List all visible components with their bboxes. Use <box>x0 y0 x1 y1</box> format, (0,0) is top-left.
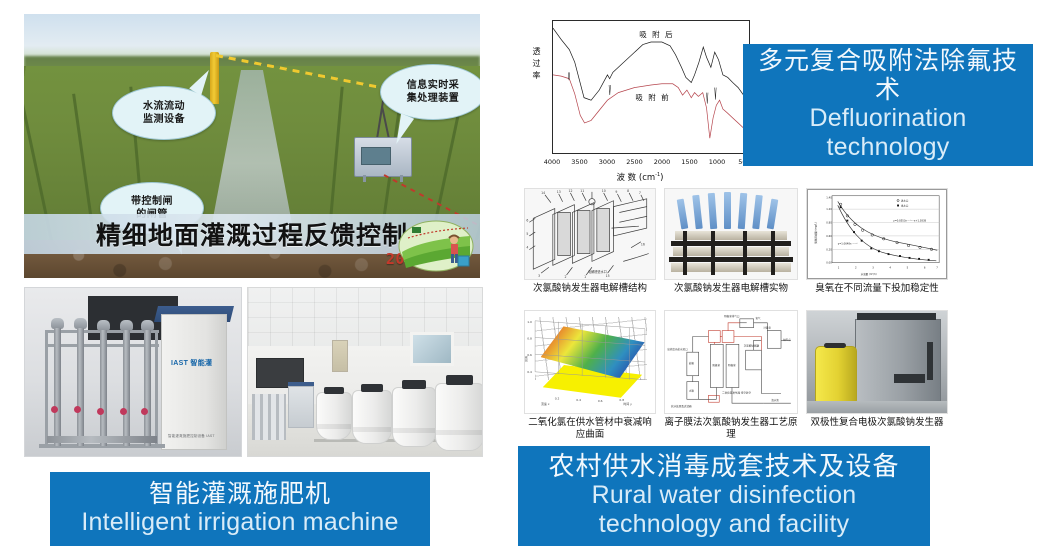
irrigation-fertigation-machine-photo: IAST 智能灌 智能灌溉施肥控制设备 IAST <box>24 287 242 457</box>
vertical-pipe <box>54 328 61 446</box>
vertical-pipe <box>100 330 107 446</box>
pump-rack <box>252 394 286 440</box>
farmer-illustration-icon <box>398 218 474 274</box>
svg-text:2: 2 <box>855 265 857 269</box>
electrode-rod <box>752 195 763 230</box>
ftir-x-tick: 4000 <box>544 158 561 166</box>
svg-text:阴极室: 阴极室 <box>728 363 736 367</box>
generator-vent <box>857 313 935 320</box>
electrode-rod <box>708 193 717 229</box>
svg-text:水箱: 水箱 <box>689 388 695 392</box>
svg-text:清水池: 清水池 <box>771 398 779 402</box>
process-diagram-box: 阴极室排气口 氢气 高浓度淡盐水进口 盐箱 水箱 阳极室 阴极室 次氯酸钠储罐 … <box>665 311 797 413</box>
schematic-drawing: 141312 11109 87 654 321 1516 电解槽进水口 <box>525 189 655 279</box>
banner-defluorination-cn: 多元复合吸附法除氟技术 <box>753 47 1023 104</box>
svg-text:0.00: 0.00 <box>826 261 832 265</box>
svg-text:水流量 (m³/h): 水流量 (m³/h) <box>861 272 877 276</box>
caption-clo2-decay-surface: 二氧化氯在供水管材中衰减响应曲面 <box>524 417 656 441</box>
svg-text:8: 8 <box>627 189 629 193</box>
door <box>332 340 348 372</box>
svg-text:1: 1 <box>838 265 840 269</box>
banner-disinfection-en2: technology and facility <box>528 510 920 539</box>
machine-sublabel: 智能灌溉施肥控制设备 IAST <box>168 434 215 439</box>
floor <box>807 401 947 413</box>
svg-text:0.4: 0.4 <box>576 398 581 402</box>
electrode-rod <box>738 193 747 229</box>
poster-root: 水流流动 监测设备 信息实时采 集处理装置 带控制闸 的闸管 精细地面灌溉过程反… <box>0 0 1040 557</box>
frame-post <box>155 330 158 446</box>
svg-text:0.80: 0.80 <box>826 220 832 224</box>
tank-lid <box>824 343 846 348</box>
banner-defluorination: 多元复合吸附法除氟技术 Defluorination technology <box>743 44 1033 166</box>
valve-handle <box>141 408 148 415</box>
bipolar-generator-photo <box>806 310 948 414</box>
cell-electrolysis-structure: 141312 11109 87 654 321 1516 电解槽进水口 次氯酸钠… <box>524 188 656 295</box>
ftir-x-tick: 3500 <box>571 158 588 166</box>
frame-post <box>45 330 48 446</box>
vertical-pipe <box>77 328 84 446</box>
ftir-spectrum-chart: 透过率 吸 附 后 吸 附 前 400035003000250020001500… <box>524 12 756 184</box>
svg-text:电解槽进水口: 电解槽进水口 <box>588 269 607 274</box>
electrode-rod <box>692 195 703 230</box>
tank-lid <box>446 375 473 385</box>
ftir-x-tick: 2000 <box>654 158 671 166</box>
clo2-response-surface: 1.00.8 0.60.4 衰减 流速 x时间 y 0.20.4 0.60.8 <box>524 310 656 414</box>
ftir-sharp-peak <box>715 88 716 100</box>
svg-text:15: 15 <box>606 274 610 278</box>
electrode-stack-photo <box>664 188 798 280</box>
caption-electrolysis-photo: 次氯酸钠发生器电解槽实物 <box>664 283 798 295</box>
control-cabinet <box>161 314 227 450</box>
generator-vent <box>894 374 925 383</box>
banner-defluorination-en2: technology <box>753 133 1023 162</box>
svg-text:出水口: 出水口 <box>901 203 909 207</box>
logger-screen <box>361 147 391 165</box>
ftir-x-tick: 3000 <box>599 158 616 166</box>
svg-text:阴极室排气口: 阴极室排气口 <box>724 314 740 318</box>
valve-handle <box>120 408 127 415</box>
svg-text:加药点: 加药点 <box>783 337 791 341</box>
ftir-y-axis-label: 透过率 <box>530 46 544 82</box>
svg-text:1.20: 1.20 <box>826 207 832 211</box>
svg-text:12: 12 <box>568 189 572 193</box>
svg-text:13: 13 <box>557 190 561 194</box>
callout-flow-text: 水流流动 监测设备 <box>143 100 185 127</box>
electrolysis-structure-schematic: 141312 11109 87 654 321 1516 电解槽进水口 <box>524 188 656 280</box>
svg-text:二氧化氯发生器 排空放空: 二氧化氯发生器 排空放空 <box>722 390 751 394</box>
svg-text:氢气: 氢气 <box>756 316 762 320</box>
svg-text:y=0.8553x⁻⁰·⁵²⁷⁷x+1.3838: y=0.8553x⁻⁰·⁵²⁷⁷x+1.3838 <box>893 219 926 223</box>
fertilizer-tank-room-photo <box>247 287 483 457</box>
ftir-x-axis-label: 波 数 (cm-1) <box>524 171 756 183</box>
caption-ion-membrane-process: 离子膜法次氯酸钠发生器工艺原理 <box>664 417 798 441</box>
svg-text:11: 11 <box>580 189 584 193</box>
svg-text:时间 y: 时间 y <box>623 401 632 406</box>
ozone-scatter-plot: 1.401.20 0.800.60 0.200.00 123 456 7 水流量… <box>808 190 946 278</box>
svg-text:3: 3 <box>538 274 540 278</box>
fertilizer-tank <box>352 390 392 444</box>
svg-text:衰减: 衰减 <box>525 356 528 362</box>
frame-bar <box>711 231 715 275</box>
field-photo-title: 精细地面灌溉过程反馈控制 <box>96 216 408 252</box>
svg-text:6: 6 <box>924 265 926 269</box>
electrode-rod <box>677 199 689 230</box>
cell-clo2-decay-surface: 1.00.8 0.60.4 衰减 流速 x时间 y 0.20.4 0.60.8 … <box>524 310 656 441</box>
svg-text:9: 9 <box>615 190 617 194</box>
svg-text:0.2: 0.2 <box>555 396 560 400</box>
ion-membrane-process-diagram: 阴极室排气口 氢气 高浓度淡盐水进口 盐箱 水箱 阳极室 阴极室 次氯酸钠储罐 … <box>664 310 798 414</box>
svg-text:4: 4 <box>526 246 528 250</box>
svg-text:计量泵: 计量泵 <box>763 326 771 330</box>
banner-intelligent-irrigation: 智能灌溉施肥机 Intelligent irrigation machine <box>50 472 430 546</box>
tank-lid <box>361 384 383 392</box>
generator-photo-box <box>807 311 947 413</box>
vertical-pipe <box>144 330 151 446</box>
cell-ion-membrane-process: 阴极室排气口 氢气 高浓度淡盐水进口 盐箱 水箱 阳极室 阴极室 次氯酸钠储罐 … <box>664 310 798 441</box>
fertilizer-tank <box>392 387 436 447</box>
ftir-annotation-before: 吸 附 前 <box>635 92 670 103</box>
svg-text:7: 7 <box>639 191 641 195</box>
ftir-sharp-peak <box>707 93 708 104</box>
svg-text:高浓度淡盐水进口: 高浓度淡盐水进口 <box>667 347 688 351</box>
svg-text:0.20: 0.20 <box>826 247 832 251</box>
ftir-x-tick: 2500 <box>626 158 643 166</box>
ftir-plot-area: 吸 附 后 吸 附 前 <box>552 20 750 154</box>
banner-defluorination-en1: Defluorination <box>753 104 1023 133</box>
svg-text:1.40: 1.40 <box>826 196 832 200</box>
window <box>410 332 454 366</box>
process-flow-svg: 阴极室排气口 氢气 高浓度淡盐水进口 盐箱 水箱 阳极室 阴极室 次氯酸钠储罐 … <box>665 311 797 413</box>
machine-logo: IAST 智能灌 <box>171 358 212 368</box>
ftir-x-tick: 1000 <box>709 158 726 166</box>
svg-text:0.8: 0.8 <box>527 336 532 340</box>
surface-axes: 1.00.8 0.60.4 衰减 流速 x时间 y 0.20.4 0.60.8 <box>525 311 655 413</box>
svg-text:阳极室: 阳极室 <box>712 363 720 367</box>
cell-bipolar-generator: 双极性复合电极次氯酸钠发生器 <box>806 310 948 429</box>
banner-irrigation-cn: 智能灌溉施肥机 <box>60 480 420 509</box>
electrode-rod <box>767 199 779 230</box>
tank-lid <box>402 380 426 389</box>
svg-text:7: 7 <box>936 265 938 269</box>
caption-ozone-stability: 臭氧在不同流量下投加稳定性 <box>806 283 948 295</box>
ftir-series-吸附前 <box>553 75 747 138</box>
svg-text:0.4: 0.4 <box>527 370 532 374</box>
svg-text:4: 4 <box>889 265 891 269</box>
svg-text:次氯酸钠储罐: 次氯酸钠储罐 <box>744 343 760 347</box>
svg-text:3: 3 <box>872 265 874 269</box>
chemical-tank <box>815 346 857 403</box>
svg-text:16: 16 <box>641 243 645 247</box>
callout-info-text: 信息实时采 集处理装置 <box>407 79 460 106</box>
banner-disinfection-en1: Rural water disinfection <box>528 481 920 510</box>
control-panel <box>288 386 314 428</box>
svg-text:14: 14 <box>541 191 545 195</box>
electrode-rod <box>724 192 731 229</box>
surface-plot-box: 1.00.8 0.60.4 衰减 流速 x时间 y 0.20.4 0.60.8 <box>525 311 655 413</box>
callout-flow-monitor: 水流流动 监测设备 <box>112 86 216 140</box>
svg-text:臭氧投加量 (mg/L): 臭氧投加量 (mg/L) <box>814 222 818 243</box>
banner-disinfection-cn: 农村供水消毒成套技术及设备 <box>528 452 920 482</box>
valve-handle <box>74 406 81 413</box>
frame-bar <box>771 231 775 275</box>
ftir-x-tick: 1500 <box>681 158 698 166</box>
svg-text:10: 10 <box>602 189 606 193</box>
svg-text:y=1.0648x⁻⁰·⁷¹⁸: y=1.0648x⁻⁰·⁷¹⁸ <box>838 242 858 246</box>
fertilizer-tank <box>316 392 352 440</box>
banner-rural-water-disinfection: 农村供水消毒成套技术及设备 Rural water disinfection t… <box>518 446 930 546</box>
valve-handle <box>97 408 104 415</box>
svg-text:5: 5 <box>907 265 909 269</box>
ftir-annotation-after: 吸 附 后 <box>639 29 674 40</box>
svg-text:0.6: 0.6 <box>598 399 603 403</box>
svg-text:盐箱: 盐箱 <box>689 361 695 365</box>
frame-bar <box>743 231 747 275</box>
generator-vent <box>927 342 933 381</box>
ozone-chart-frame: 1.401.20 0.800.60 0.200.00 123 456 7 水流量… <box>807 189 947 279</box>
fertilizer-tank <box>435 383 483 451</box>
svg-text:1.0: 1.0 <box>527 320 532 324</box>
logger-leg <box>400 175 403 182</box>
caption-bipolar-generator: 双极性复合电极次氯酸钠发生器 <box>806 417 948 429</box>
cell-electrolysis-photo: 次氯酸钠发生器电解槽实物 <box>664 188 798 295</box>
svg-text:6: 6 <box>526 218 528 222</box>
svg-text:2: 2 <box>565 275 567 279</box>
horizontal-manifold <box>47 436 157 443</box>
callout-info-collector: 信息实时采 集处理装置 <box>380 64 480 120</box>
ftir-sharp-peak <box>609 85 610 95</box>
svg-text:流速 x: 流速 x <box>541 401 550 406</box>
valve-handle <box>51 406 58 413</box>
field-irrigation-photo: 水流流动 监测设备 信息实时采 集处理装置 带控制闸 的闸管 精细地面灌溉过程反… <box>24 14 480 278</box>
banner-irrigation-en: Intelligent irrigation machine <box>60 508 420 537</box>
logger-leg <box>363 175 366 182</box>
cell-ozone-stability: 1.401.20 0.800.60 0.200.00 123 456 7 水流量… <box>806 188 948 295</box>
svg-text:0.8: 0.8 <box>619 398 624 402</box>
svg-text:进水口: 进水口 <box>901 198 909 202</box>
tank-lid <box>324 387 344 394</box>
ftir-curves <box>553 21 749 153</box>
svg-text:5: 5 <box>526 232 528 236</box>
vertical-pipe <box>123 330 130 446</box>
svg-text:1: 1 <box>584 275 586 279</box>
frame-bar <box>683 231 687 275</box>
ozone-stability-chart: 1.401.20 0.800.60 0.200.00 123 456 7 水流量… <box>806 188 948 280</box>
caption-electrolysis-structure: 次氯酸钠发生器电解槽结构 <box>524 283 656 295</box>
svg-text:0.60: 0.60 <box>826 234 832 238</box>
svg-text:软水处理及过滤器: 软水处理及过滤器 <box>671 404 692 408</box>
